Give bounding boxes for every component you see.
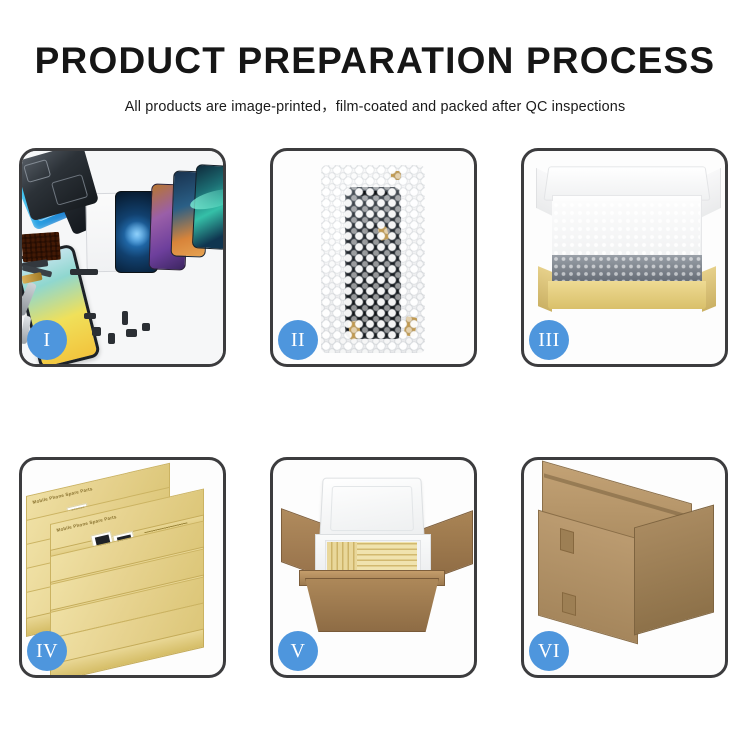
bubble-wrap-bag-graphic [321,165,425,353]
step-badge-3: III [529,320,569,360]
carton-front-graphic [305,578,439,632]
logic-board-graphic [22,232,61,263]
page-title: PRODUCT PREPARATION PROCESS [0,0,750,79]
process-step-panel-3: III [521,148,728,367]
foam-cooler-lid-graphic [319,478,425,541]
product-preparation-infographic: PRODUCT PREPARATION PROCESS All products… [0,0,750,750]
page-subtitle: All products are image-printed，film-coat… [0,79,750,116]
antenna-strip-graphic [70,269,98,275]
process-step-panel-4: Mobile Phone Spare Parts [19,457,226,678]
step-badge-2: II [278,320,318,360]
bubble-texture-overlay-graphic [321,165,425,353]
grey-foam-layer-graphic [552,255,702,283]
step-badge-1: I [27,320,67,360]
small-part-2-graphic [108,333,115,344]
small-part-5-graphic [84,313,96,319]
carton-side-face-graphic [634,505,714,636]
carton-tape-upper-graphic [560,528,574,554]
small-part-4-graphic [142,323,150,331]
box-front-panel-graphic [548,281,706,309]
step-badge-6: VI [529,631,569,671]
small-part-3-graphic [126,329,137,337]
header: PRODUCT PREPARATION PROCESS All products… [0,0,750,116]
process-step-grid: I II [19,148,733,678]
process-step-panel-1: I [19,148,226,367]
process-step-panel-2: II [270,148,477,367]
small-part-6-graphic [122,311,128,325]
process-step-panel-5: V [270,457,477,678]
white-foam-sheet-graphic [552,201,700,257]
carton-tape-lower-graphic [562,592,576,616]
small-part-1-graphic [92,327,101,336]
step-badge-5: V [278,631,318,671]
process-step-panel-6: VI [521,457,728,678]
step-badge-4: IV [27,631,67,671]
teal-phone-graphic [192,164,223,250]
